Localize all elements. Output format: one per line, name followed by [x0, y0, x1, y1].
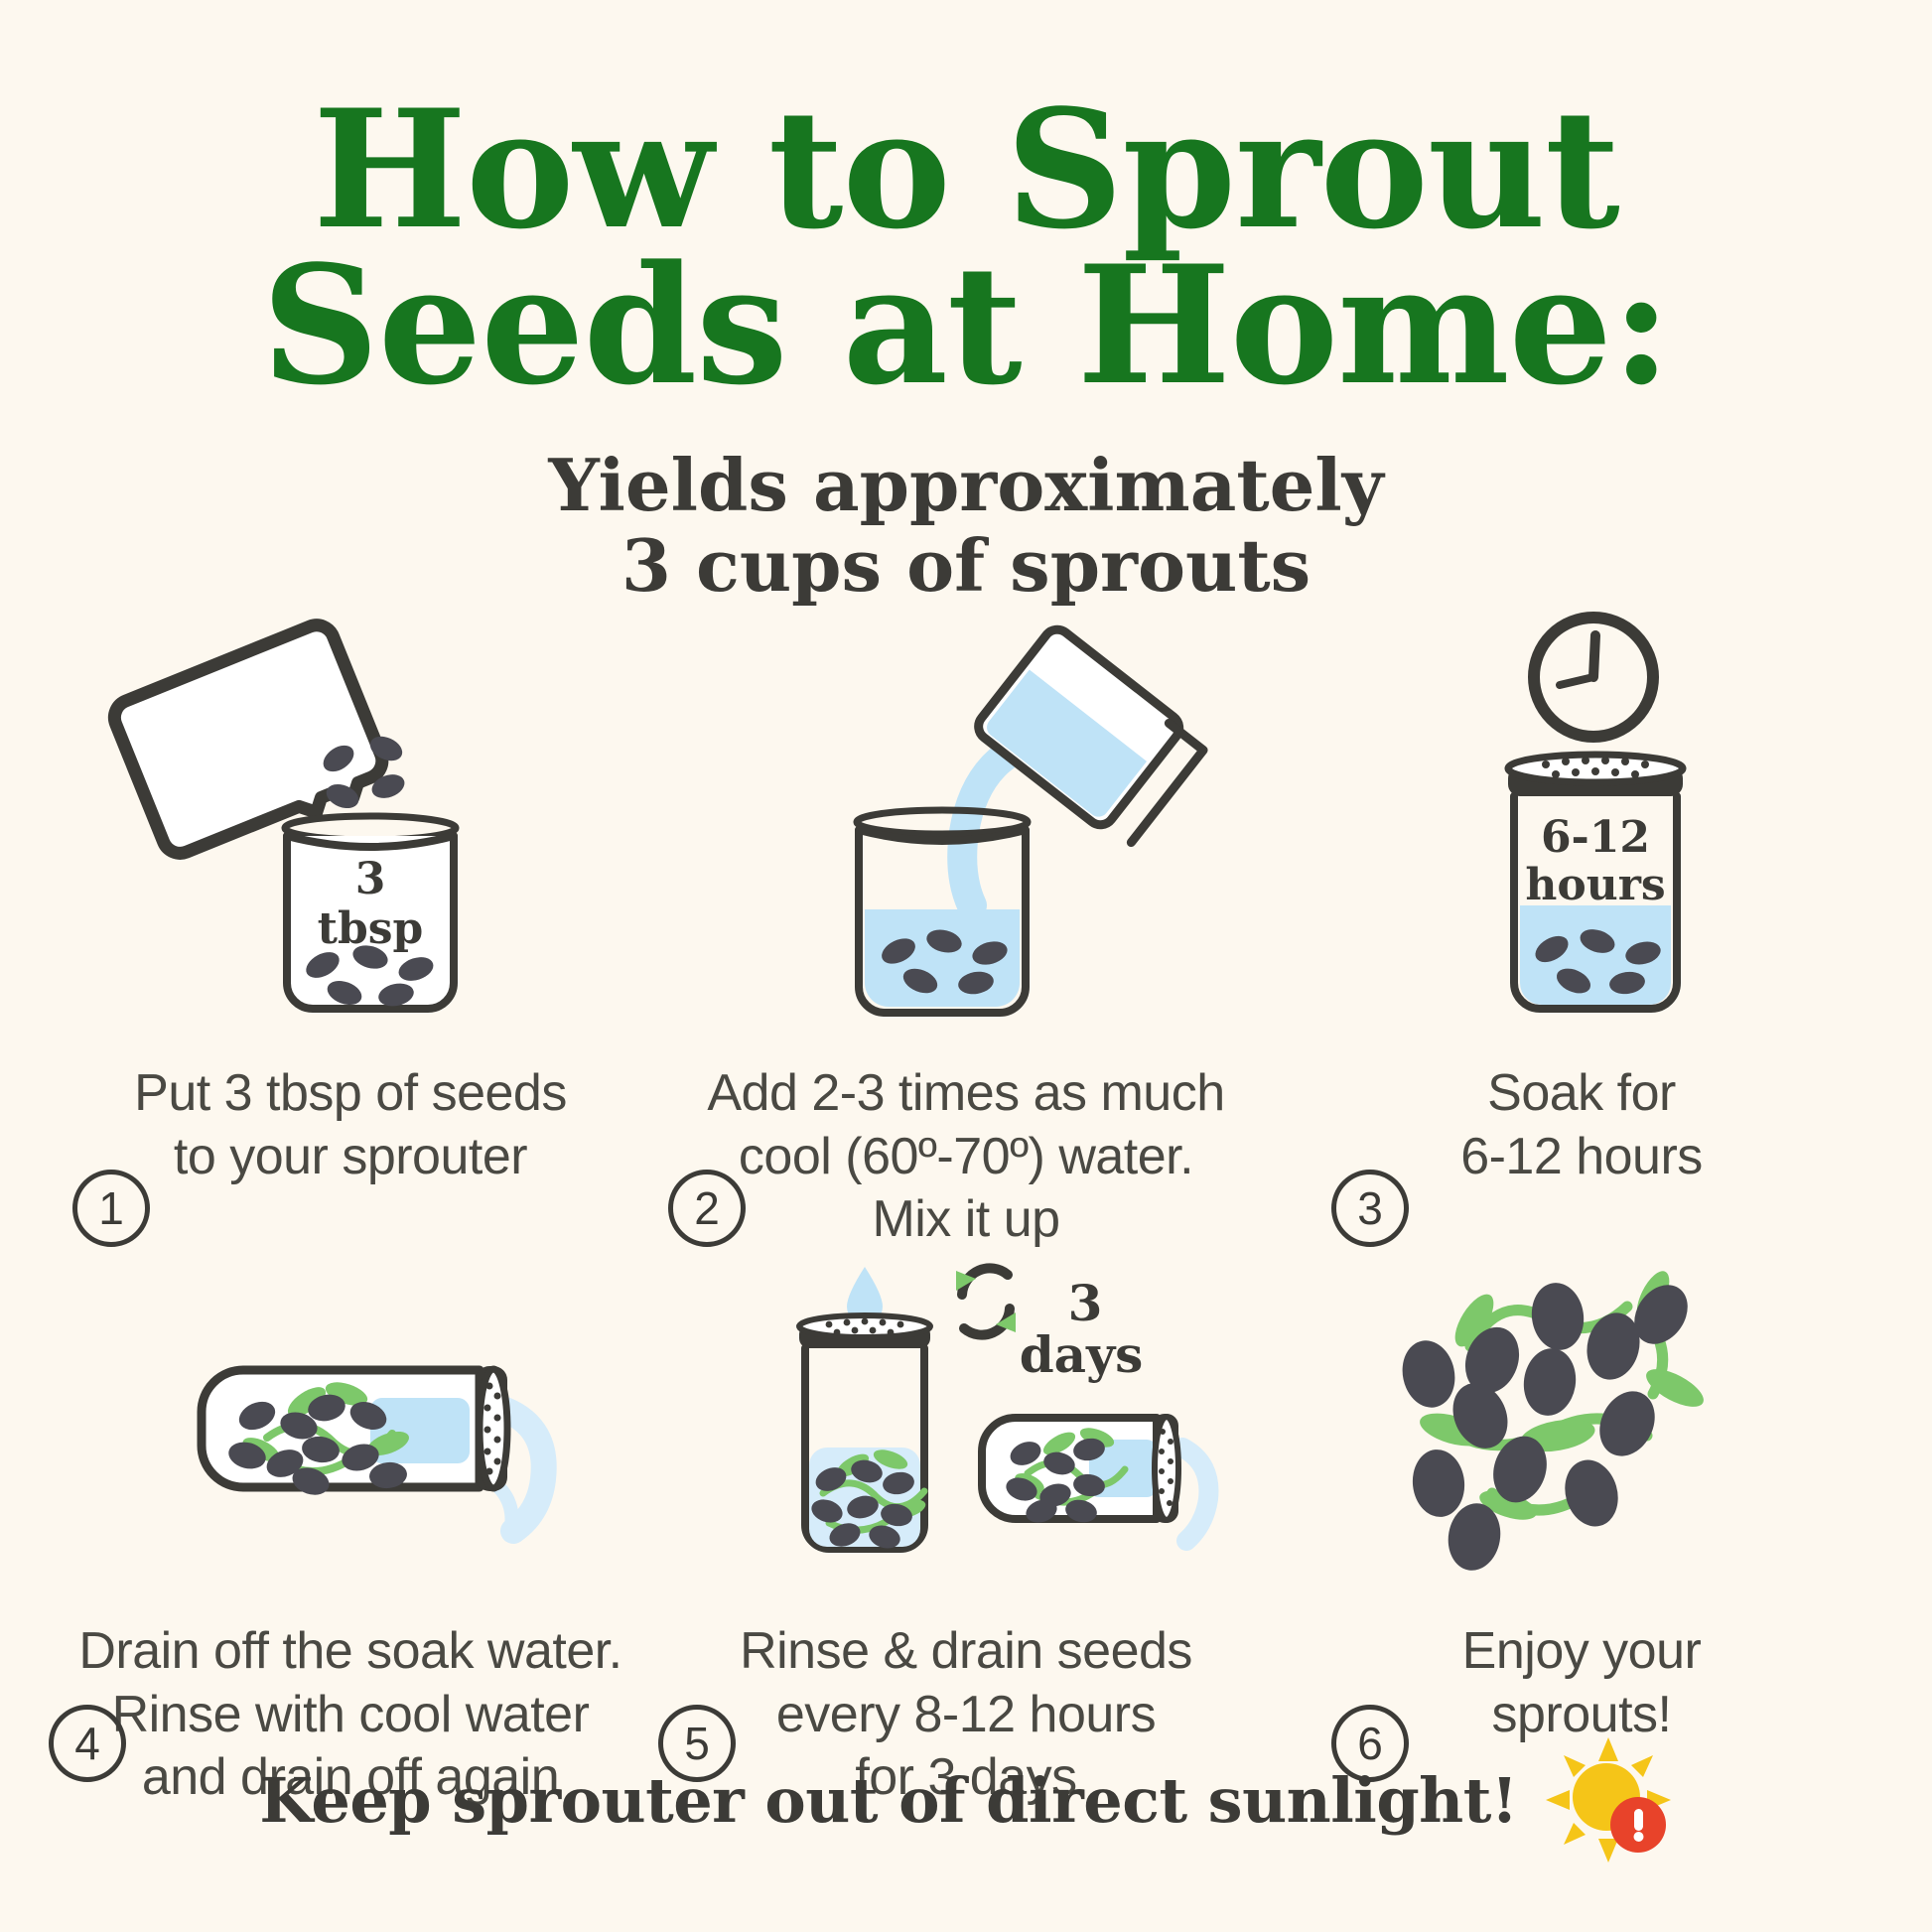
step-1-art-label-line1: 3 — [355, 854, 386, 904]
step-4-illustration — [43, 1259, 658, 1587]
step-6-caption: Enjoy your sprouts! — [1462, 1620, 1702, 1746]
infographic-poster: How to Sprout Seeds at Home: Yields appr… — [0, 0, 1932, 1932]
seed-packet-pouring-into-jar-icon: 3 tbsp — [72, 612, 628, 1029]
title-line-2: Seeds at Home: — [192, 247, 1740, 403]
step-2-number-badge: 2 — [668, 1170, 746, 1247]
step-2-caption: Add 2-3 times as much cool (60º-70º) wat… — [707, 1062, 1224, 1251]
refresh-cycle-icon — [956, 1269, 1016, 1335]
rinse-cycle-jars-icon: 3 days — [688, 1259, 1244, 1587]
step-1-caption: Put 3 tbsp of seeds to your sprouter — [134, 1062, 567, 1188]
page-subtitle: Yields approximately 3 cups of sprouts — [548, 446, 1383, 606]
step-2-illustration — [658, 612, 1274, 1029]
subtitle-line-2: 3 cups of sprouts — [548, 526, 1383, 607]
step-1: 3 tbsp 1 Put 3 tbsp of seeds to your spr… — [43, 612, 658, 1251]
step-3-caption: Soak for 6-12 hours — [1460, 1062, 1703, 1188]
clock-icon — [1534, 618, 1653, 737]
step-6-illustration — [1274, 1259, 1889, 1587]
clock-and-soaking-jar-icon: 6-12 hours — [1304, 612, 1860, 1029]
step-6: 6 Enjoy your sprouts! — [1274, 1259, 1889, 1809]
subtitle-line-1: Yields approximately — [548, 446, 1383, 526]
step-5: 3 days — [658, 1259, 1274, 1809]
step-3-illustration: 6-12 hours — [1274, 612, 1889, 1029]
step-3: 6-12 hours 3 Soak for 6-12 hours — [1274, 612, 1889, 1251]
step-5-art-label-line1: 3 — [1068, 1274, 1103, 1332]
pitcher-pouring-water-into-jar-icon — [688, 612, 1244, 1029]
step-4: 4 Drain off the soak water. Rinse with c… — [43, 1259, 658, 1809]
footer-warning: Keep sprouter out of direct sunlight! — [0, 1735, 1932, 1864]
step-1-number-badge: 1 — [72, 1170, 150, 1247]
steps-grid: 3 tbsp 1 Put 3 tbsp of seeds to your spr… — [43, 612, 1889, 1810]
step-3-art-label-line2: hours — [1525, 860, 1665, 910]
step-2: 2 Add 2-3 times as much cool (60º-70º) w… — [658, 612, 1274, 1251]
step-1-illustration: 3 tbsp — [43, 612, 658, 1029]
step-3-number-badge: 3 — [1331, 1170, 1409, 1247]
mesh-lid-upright — [799, 1315, 930, 1348]
alert-bang — [1634, 1809, 1643, 1831]
footer-warning-text: Keep sprouter out of direct sunlight! — [259, 1764, 1517, 1837]
alert-dot — [1633, 1832, 1643, 1842]
step-5-art-label-line2: days — [1020, 1325, 1144, 1384]
mesh-lid — [1508, 755, 1683, 796]
second-jar-draining — [982, 1414, 1208, 1541]
sun-with-alert-icon — [1544, 1735, 1673, 1864]
mesh-lid — [476, 1366, 507, 1491]
step-3-art-label-line1: 6-12 — [1541, 812, 1650, 863]
page-title: How to Sprout Seeds at Home: — [192, 91, 1740, 404]
sprouted-seeds-cluster-icon — [1304, 1259, 1860, 1587]
tilted-jar-draining-icon — [72, 1259, 628, 1587]
step-5-illustration: 3 days — [658, 1259, 1274, 1587]
